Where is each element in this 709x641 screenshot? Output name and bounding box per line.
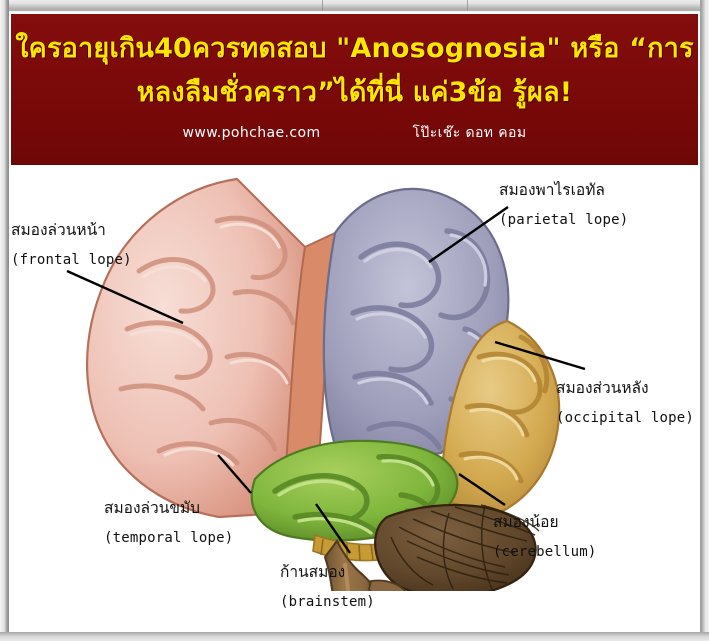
label-cerebellum: สมองน้อย (cerebellum) bbox=[493, 507, 597, 567]
label-brainstem: ก้านสมอง (brainstem) bbox=[280, 557, 375, 617]
window-border-right bbox=[700, 0, 709, 641]
label-occipital-english: (occipital lope) bbox=[556, 403, 694, 433]
label-parietal-thai: สมองพาไรเอทัล bbox=[499, 175, 628, 205]
label-occipital-lobe: สมองส่วนหลัง (occipital lope) bbox=[556, 373, 694, 433]
site-name-thai: โป๊ะเช๊ะ ดอท คอม bbox=[413, 122, 527, 144]
site-url[interactable]: www.pohchae.com bbox=[183, 125, 321, 141]
headline-line-1: ใครอายุเกิน40ควรทดสอบ "Anosognosia" หรือ… bbox=[11, 34, 698, 64]
headline-banner: ใครอายุเกิน40ควรทดสอบ "Anosognosia" หรือ… bbox=[11, 14, 698, 165]
label-parietal-english: (parietal lope) bbox=[499, 205, 628, 235]
label-frontal-thai: สมองล่วนหน้า bbox=[11, 215, 132, 245]
label-temporal-english: (temporal lope) bbox=[104, 523, 233, 553]
label-temporal-lobe: สมองล่วนขมับ (temporal lope) bbox=[104, 493, 233, 553]
brain-diagram-image: สมองล่วนหน้า (frontal lope) สมองพาไรเอทั… bbox=[11, 167, 698, 630]
titlebar-highlight bbox=[9, 11, 700, 13]
label-cerebellum-english: (cerebellum) bbox=[493, 537, 597, 567]
page-frame: ใครอายุเกิน40ควรทดสอบ "Anosognosia" หรือ… bbox=[0, 0, 709, 641]
label-occipital-thai: สมองส่วนหลัง bbox=[556, 373, 694, 403]
label-brainstem-thai: ก้านสมอง bbox=[280, 557, 375, 587]
window-border-bottom bbox=[0, 632, 709, 641]
window-border-left bbox=[0, 0, 9, 641]
label-frontal-lobe: สมองล่วนหน้า (frontal lope) bbox=[11, 215, 132, 275]
label-temporal-thai: สมองล่วนขมับ bbox=[104, 493, 233, 523]
label-cerebellum-thai: สมองน้อย bbox=[493, 507, 597, 537]
headline-line-2: หลงลืมชั่วคราว”ได้ที่นี่ แค่3ข้อ รู้ผล! bbox=[11, 78, 698, 108]
banner-footer-row: www.pohchae.com โป๊ะเช๊ะ ดอท คอม bbox=[11, 122, 698, 144]
label-parietal-lobe: สมองพาไรเอทัล (parietal lope) bbox=[499, 175, 628, 235]
label-frontal-english: (frontal lope) bbox=[11, 245, 132, 275]
label-brainstem-english: (brainstem) bbox=[280, 587, 375, 617]
